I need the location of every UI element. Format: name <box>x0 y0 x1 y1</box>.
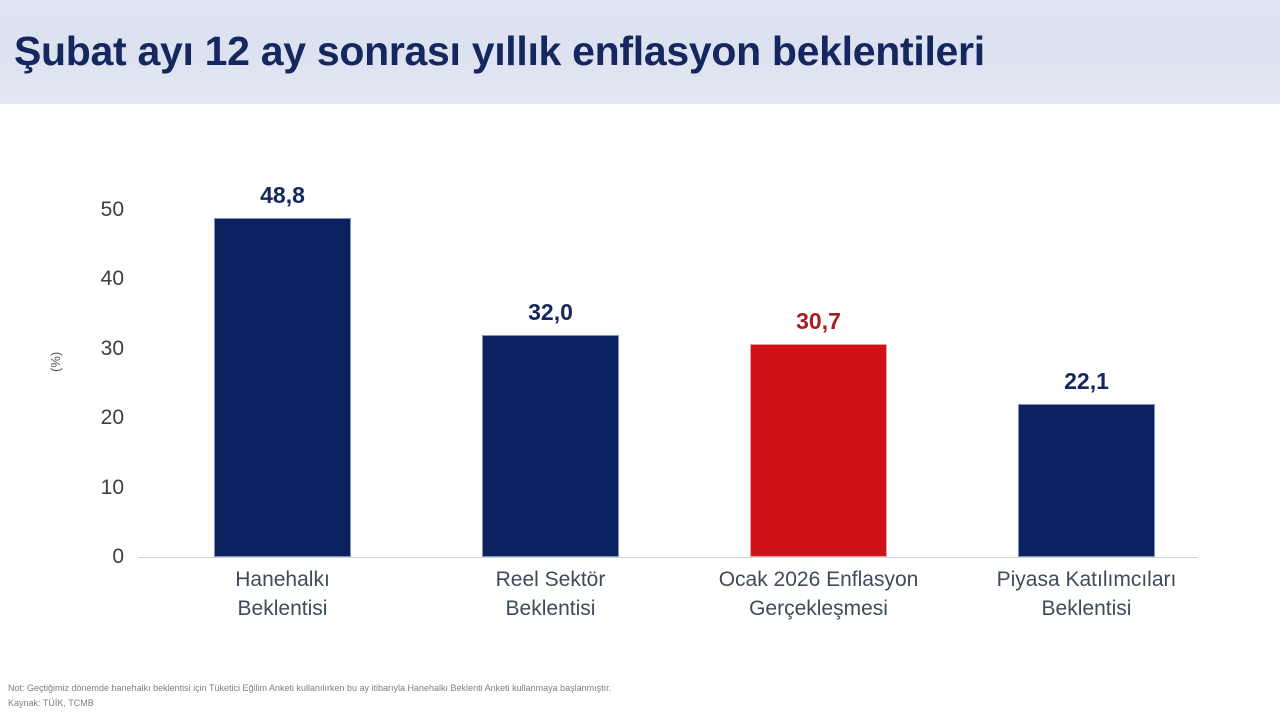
bar-value-label: 48,8 <box>214 182 351 209</box>
y-axis-title: (%) <box>48 352 63 372</box>
bar-value-label: 32,0 <box>482 299 619 326</box>
y-axis-tick-label: 10 <box>64 476 124 500</box>
bar-value-label: 22,1 <box>1018 368 1155 395</box>
bar[interactable] <box>1018 404 1155 557</box>
y-axis-tick-label: 20 <box>64 406 124 430</box>
x-axis-category-label: Piyasa KatılımcılarıBeklentisi <box>982 566 1192 624</box>
y-axis-tick-label: 50 <box>64 198 124 222</box>
x-axis-category-line2: Beklentisi <box>446 595 656 624</box>
bar-chart: (%) 0102030405048,832,030,722,1 Hanehalk… <box>0 104 1280 664</box>
bar-value-label: 30,7 <box>750 308 887 335</box>
x-axis-category-line1: Ocak 2026 Enflasyon <box>714 566 924 595</box>
bar[interactable] <box>482 335 619 557</box>
x-axis-category-line2: Beklentisi <box>982 595 1192 624</box>
x-axis-category-label: Reel SektörBeklentisi <box>446 566 656 624</box>
bar[interactable] <box>214 218 351 557</box>
y-axis-tick-label: 40 <box>64 267 124 291</box>
x-axis-category-label: Ocak 2026 EnflasyonGerçekleşmesi <box>714 566 924 624</box>
x-axis-category-line1: Piyasa Katılımcıları <box>982 566 1192 595</box>
y-axis-tick-label: 30 <box>64 337 124 361</box>
x-axis-category-line2: Gerçekleşmesi <box>714 595 924 624</box>
plot-region: 0102030405048,832,030,722,1 <box>138 210 1190 557</box>
footnote-note: Not: Geçtiğimiz dönemde hanehalkı beklen… <box>8 681 1208 696</box>
y-axis-tick-label: 0 <box>64 545 124 569</box>
x-axis-category-line2: Beklentisi <box>178 595 388 624</box>
header-banner: Şubat ayı 12 ay sonrası yıllık enflasyon… <box>0 0 1280 105</box>
x-axis-category-label: HanehalkıBeklentisi <box>178 566 388 624</box>
bar[interactable] <box>750 344 887 557</box>
footnotes: Not: Geçtiğimiz dönemde hanehalkı beklen… <box>8 681 1208 711</box>
x-axis-category-line1: Hanehalkı <box>178 566 388 595</box>
footnote-source: Kaynak: TÜİK, TCMB <box>8 696 1208 711</box>
page-title: Şubat ayı 12 ay sonrası yıllık enflasyon… <box>14 28 985 75</box>
x-axis-line <box>138 557 1198 558</box>
x-axis-category-line1: Reel Sektör <box>446 566 656 595</box>
